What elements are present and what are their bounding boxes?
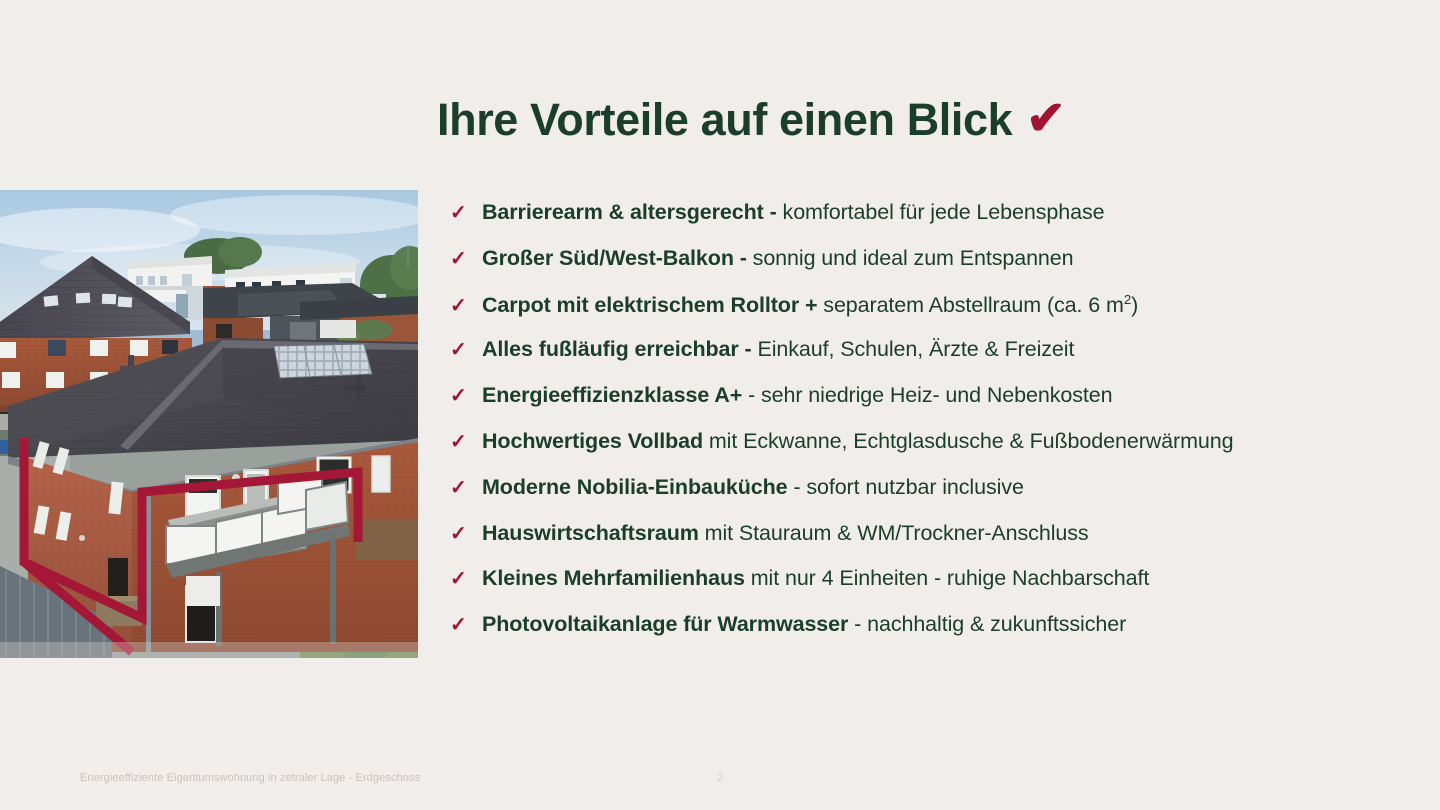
benefit-item-headline: Moderne Nobilia-Einbauküche xyxy=(482,475,788,499)
benefit-item-detail: mit nur 4 Einheiten - ruhige Nachbarscha… xyxy=(745,566,1149,590)
check-icon: ✓ xyxy=(450,296,482,316)
benefit-item-tail: ) xyxy=(1131,293,1138,317)
check-icon: ✓ xyxy=(450,569,482,589)
benefit-item-headline: Energieeffizienzklasse A+ xyxy=(482,383,742,407)
check-icon: ✓ xyxy=(450,432,482,452)
benefits-list: ✓Barrierearm & altersgerecht - komfortab… xyxy=(450,200,1405,658)
check-icon: ✓ xyxy=(450,203,482,223)
benefit-item-detail: sonnig und ideal zum Entspannen xyxy=(747,246,1074,270)
benefit-item-text: Alles fußläufig erreichbar - Einkauf, Sc… xyxy=(482,337,1074,362)
property-photo xyxy=(0,190,418,658)
page-title: Ihre Vorteile auf einen Blick ✔ xyxy=(437,96,1066,143)
check-icon: ✓ xyxy=(450,478,482,498)
benefit-item-text: Moderne Nobilia-Einbauküche - sofort nut… xyxy=(482,475,1024,500)
benefit-item: ✓Alles fußläufig erreichbar - Einkauf, S… xyxy=(450,337,1405,383)
benefit-item-text: Carpot mit elektrischem Rolltor + separa… xyxy=(482,292,1138,318)
slide-canvas: Ihre Vorteile auf einen Blick ✔ ✓Barrier… xyxy=(0,0,1440,810)
check-icon: ✓ xyxy=(450,386,482,406)
benefit-item-detail: - nachhaltig & zukunftssicher xyxy=(848,612,1126,636)
benefit-item-detail: separatem Abstellraum (ca. 6 m xyxy=(817,293,1123,317)
benefit-item: ✓Energieeffizienzklasse A+ - sehr niedri… xyxy=(450,383,1405,429)
benefit-item-detail: - sofort nutzbar inclusive xyxy=(788,475,1024,499)
benefit-item-headline: Hochwertiges Vollbad xyxy=(482,429,703,453)
benefit-item-text: Photovoltaikanlage für Warmwasser - nach… xyxy=(482,612,1126,637)
benefit-item-detail: Einkauf, Schulen, Ärzte & Freizeit xyxy=(752,337,1075,361)
benefit-item-headline: Alles fußläufig erreichbar - xyxy=(482,337,752,361)
check-icon: ✓ xyxy=(450,249,482,269)
property-photo-illustration xyxy=(0,190,418,658)
benefit-item-text: Hauswirtschaftsraum mit Stauraum & WM/Tr… xyxy=(482,521,1089,546)
check-icon: ✓ xyxy=(450,340,482,360)
benefit-item-headline: Kleines Mehrfamilienhaus xyxy=(482,566,745,590)
check-icon: ✓ xyxy=(450,524,482,544)
benefit-item: ✓Photovoltaikanlage für Warmwasser - nac… xyxy=(450,612,1405,658)
check-icon: ✓ xyxy=(450,615,482,635)
benefit-item: ✓Carpot mit elektrischem Rolltor + separ… xyxy=(450,292,1405,338)
benefit-item: ✓Großer Süd/West-Balkon - sonnig und ide… xyxy=(450,246,1405,292)
benefit-item-detail: - sehr niedrige Heiz- und Nebenkosten xyxy=(742,383,1112,407)
check-icon: ✔ xyxy=(1026,94,1065,141)
benefit-item-detail: mit Stauraum & WM/Trockner-Anschluss xyxy=(699,521,1089,545)
benefit-item-text: Hochwertiges Vollbad mit Eckwanne, Echtg… xyxy=(482,429,1233,454)
benefit-item: ✓Moderne Nobilia-Einbauküche - sofort nu… xyxy=(450,475,1405,521)
benefit-item-headline: Großer Süd/West-Balkon - xyxy=(482,246,747,270)
benefit-item-headline: Carpot mit elektrischem Rolltor + xyxy=(482,293,817,317)
benefit-item-text: Großer Süd/West-Balkon - sonnig und idea… xyxy=(482,246,1074,271)
benefit-item-headline: Photovoltaikanlage für Warmwasser xyxy=(482,612,848,636)
benefit-item-text: Energieeffizienzklasse A+ - sehr niedrig… xyxy=(482,383,1112,408)
benefit-item-text: Barrierearm & altersgerecht - komfortabe… xyxy=(482,200,1104,225)
benefit-item: ✓Kleines Mehrfamilienhaus mit nur 4 Einh… xyxy=(450,566,1405,612)
benefit-item-headline: Barrierearm & altersgerecht - xyxy=(482,200,777,224)
benefit-item: ✓Hochwertiges Vollbad mit Eckwanne, Echt… xyxy=(450,429,1405,475)
benefit-item-headline: Hauswirtschaftsraum xyxy=(482,521,699,545)
benefit-item-detail: mit Eckwanne, Echtglasdusche & Fußbodene… xyxy=(703,429,1233,453)
benefit-item-text: Kleines Mehrfamilienhaus mit nur 4 Einhe… xyxy=(482,566,1149,591)
benefit-item: ✓Barrierearm & altersgerecht - komfortab… xyxy=(450,200,1405,246)
footer-page-number: 2 xyxy=(0,772,1440,784)
page-title-text: Ihre Vorteile auf einen Blick xyxy=(437,96,1012,143)
benefit-item: ✓Hauswirtschaftsraum mit Stauraum & WM/T… xyxy=(450,521,1405,567)
benefit-item-detail: komfortabel für jede Lebensphase xyxy=(777,200,1105,224)
